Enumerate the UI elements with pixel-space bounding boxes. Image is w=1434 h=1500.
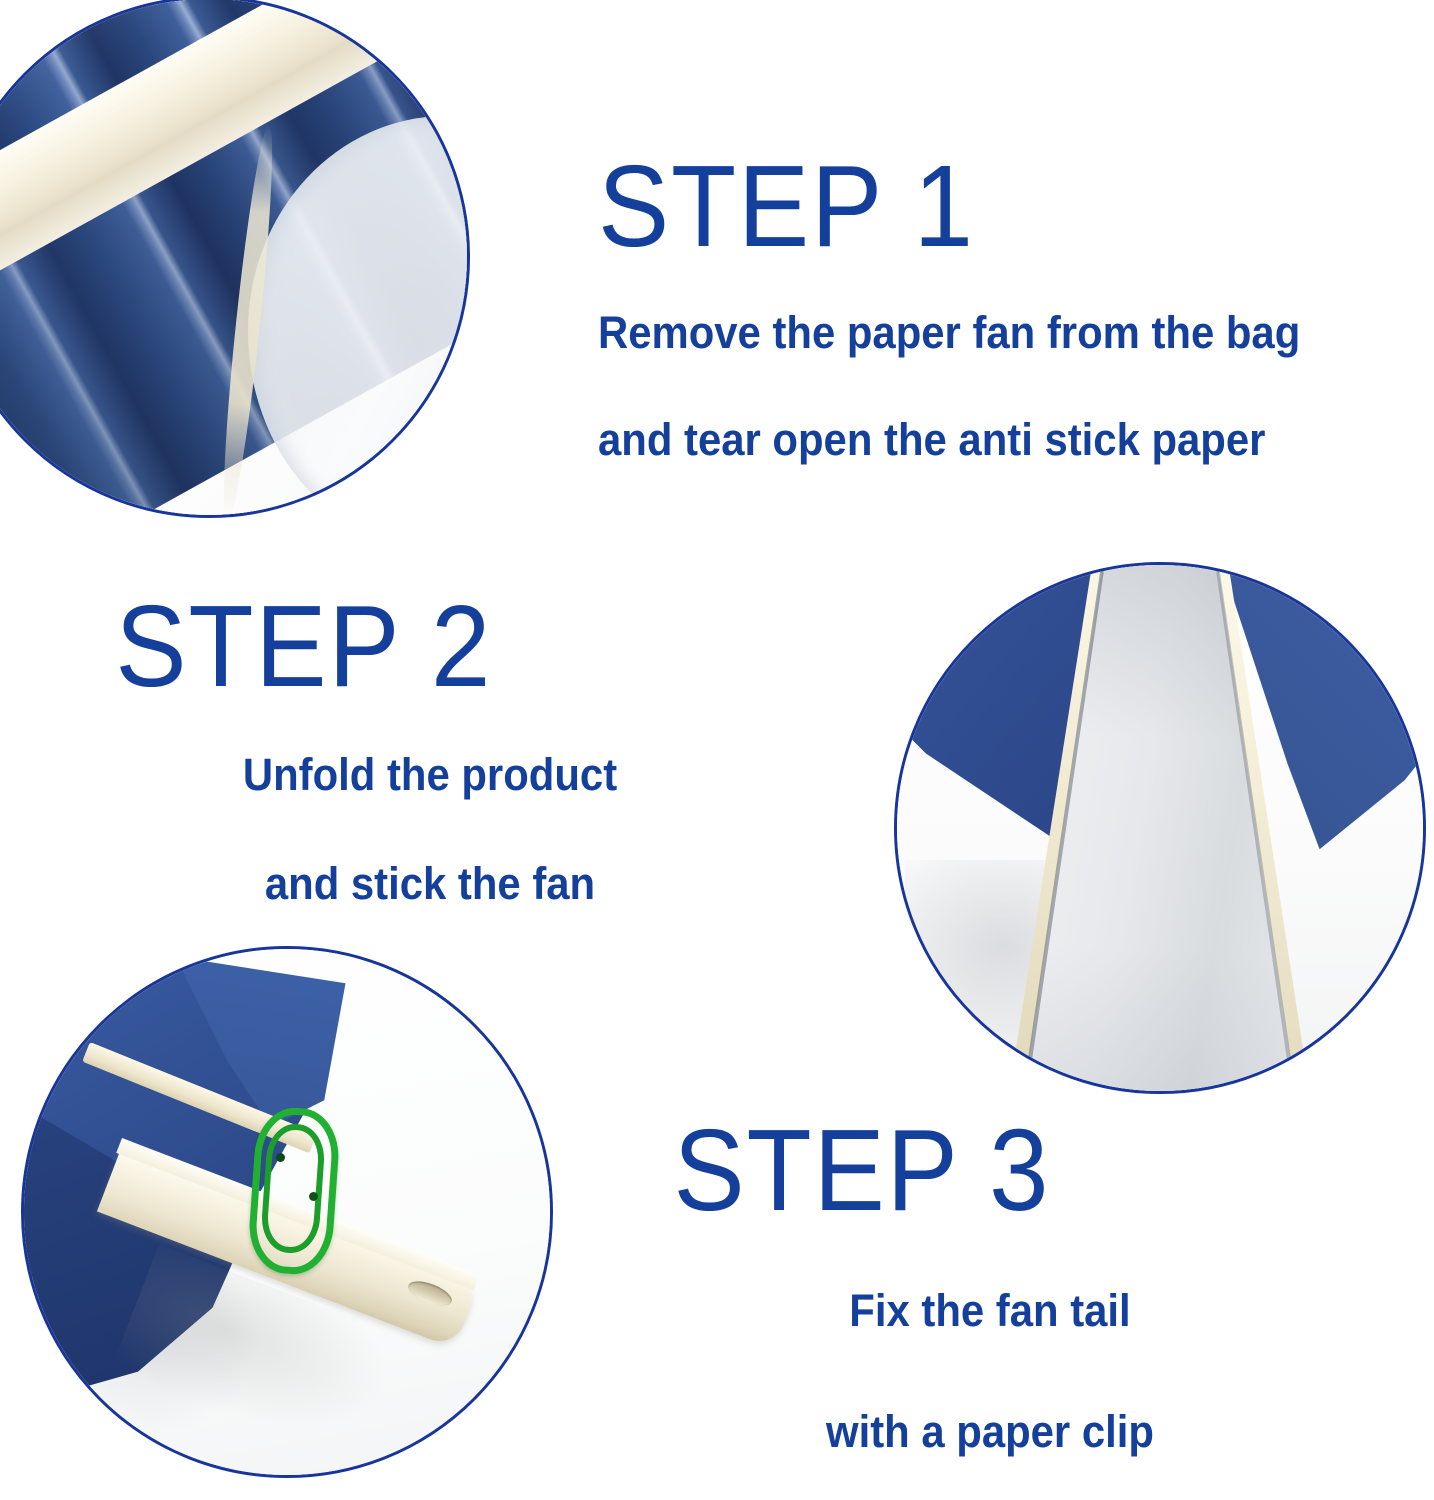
step-1-body-line-2: and tear open the anti stick paper bbox=[598, 401, 1300, 478]
step-2-body-line-2: and stick the fan bbox=[105, 845, 756, 922]
step-1-photo-inner bbox=[0, 0, 470, 518]
step-2-heading: STEP 2 bbox=[108, 588, 752, 704]
step-3-body-line-2: with a paper clip bbox=[665, 1393, 1316, 1470]
step-2-text-block: STEP 2 Unfold the product and stick the … bbox=[80, 588, 780, 923]
step-2-photo-inner bbox=[894, 562, 1426, 1094]
step-1-photo-circle bbox=[0, 0, 470, 518]
step-2-photo-circle bbox=[894, 562, 1426, 1094]
step-3-heading: STEP 3 bbox=[668, 1112, 1312, 1228]
step-1-body-line-1: Remove the paper fan from the bag bbox=[598, 294, 1300, 371]
step-3-photo-inner bbox=[21, 946, 553, 1478]
step-3-photo-circle bbox=[21, 946, 553, 1478]
step-3-green-paper-clip-inner-loop bbox=[259, 1122, 326, 1255]
instruction-infographic: STEP 1 Remove the paper fan from the bag… bbox=[0, 0, 1434, 1500]
step-1-heading: STEP 1 bbox=[598, 148, 1293, 264]
step-3-text-block: STEP 3 Fix the fan tail with a paper cli… bbox=[640, 1112, 1340, 1471]
step-1-text-block: STEP 1 Remove the paper fan from the bag… bbox=[598, 148, 1353, 479]
step-2-body-line-1: Unfold the product bbox=[105, 736, 756, 813]
step-3-body-line-1: Fix the fan tail bbox=[665, 1272, 1316, 1349]
